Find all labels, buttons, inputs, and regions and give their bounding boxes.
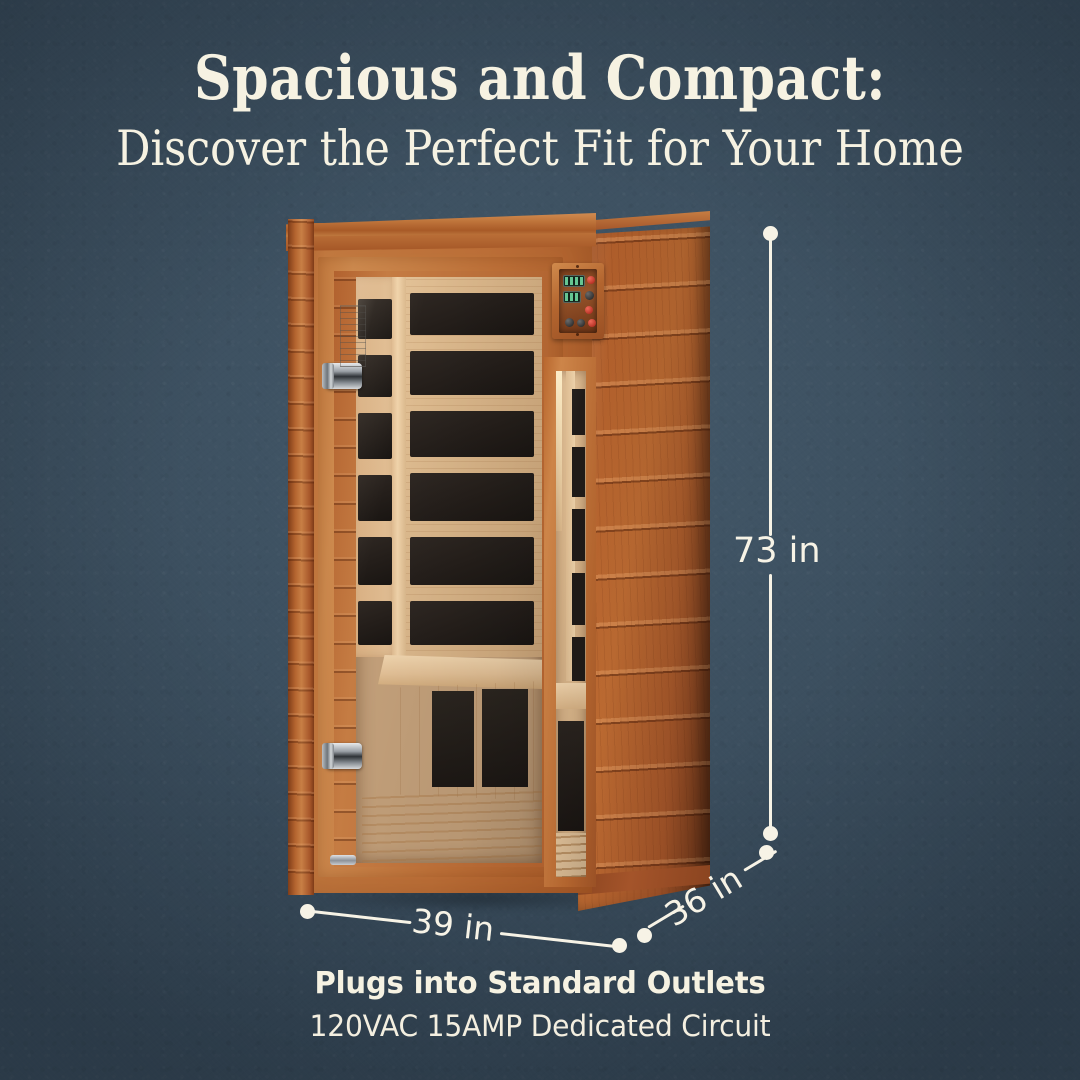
depth-dimension-dot-far [759,845,774,860]
up-button[interactable] [565,318,574,327]
heater-panel [358,475,392,521]
mode-button[interactable] [585,291,594,300]
sauna-side-window-glow [556,371,562,531]
sauna-certification-label [340,305,366,367]
heater-panel [558,721,584,831]
headline-line-2: Discover the Perfect Fit for Your Home [68,122,1013,176]
heater-panel [410,293,534,335]
height-dimension-line-lower [769,574,772,832]
sauna-side-window-floor [556,833,586,877]
headline-block: Spacious and Compact: Discover the Perfe… [0,48,1080,176]
heater-panel [410,411,534,457]
footer-subline: 120VAC 15AMP Dedicated Circuit [16,1009,1064,1043]
heater-panel [410,601,534,645]
sauna-side-window-glass [556,371,586,877]
led-segments [565,277,583,285]
power-button[interactable] [587,276,595,284]
headline-line-1: Spacious and Compact: [78,48,1001,110]
sauna-door-hinge-pin-upper [322,363,334,389]
sauna-product-image [282,205,707,905]
depth-dimension-dot-near [637,928,652,943]
heater-panel [572,447,585,497]
heater-panel [358,601,392,645]
sauna-side-window-bench [556,683,586,709]
height-dimension-dot-bottom [763,826,778,841]
heater-panel [358,537,392,585]
sauna-corner-post [288,219,314,895]
heater-panel [572,637,585,681]
height-dimension-line-upper [769,234,772,536]
heater-panel [410,473,534,521]
temperature-display [563,275,585,287]
control-panel[interactable] [559,269,597,333]
sauna-door-latch[interactable] [330,855,356,865]
light-button[interactable] [585,306,593,314]
heater-panel [572,389,585,435]
heater-panel [410,537,534,585]
footer-block: Plugs into Standard Outlets 120VAC 15AMP… [0,966,1080,1043]
footer-headline: Plugs into Standard Outlets [16,966,1064,1001]
led-segments [565,293,579,301]
sauna-interior-stile [392,277,406,657]
width-dimension-dot-right [612,938,627,953]
heater-panel [572,509,585,561]
timer-display [563,291,581,303]
height-dimension-label: 73 in [733,531,821,571]
heater-panel-under-bench [482,689,528,787]
heater-panel [358,413,392,459]
heater-panel [572,573,585,625]
product-infographic: Spacious and Compact: Discover the Perfe… [0,0,1080,1080]
sauna-door-glass [356,277,542,863]
heater-panel-under-bench [432,691,474,787]
sauna-floor-slats [362,785,542,863]
down-button[interactable] [577,319,585,327]
heater-panel [410,351,534,395]
control-panel-screw [576,265,579,268]
control-panel-screw [576,333,579,336]
sauna-corner-post-ridges [288,219,314,895]
sauna-door-hinge-pin-lower [322,743,334,769]
set-button[interactable] [588,319,596,327]
